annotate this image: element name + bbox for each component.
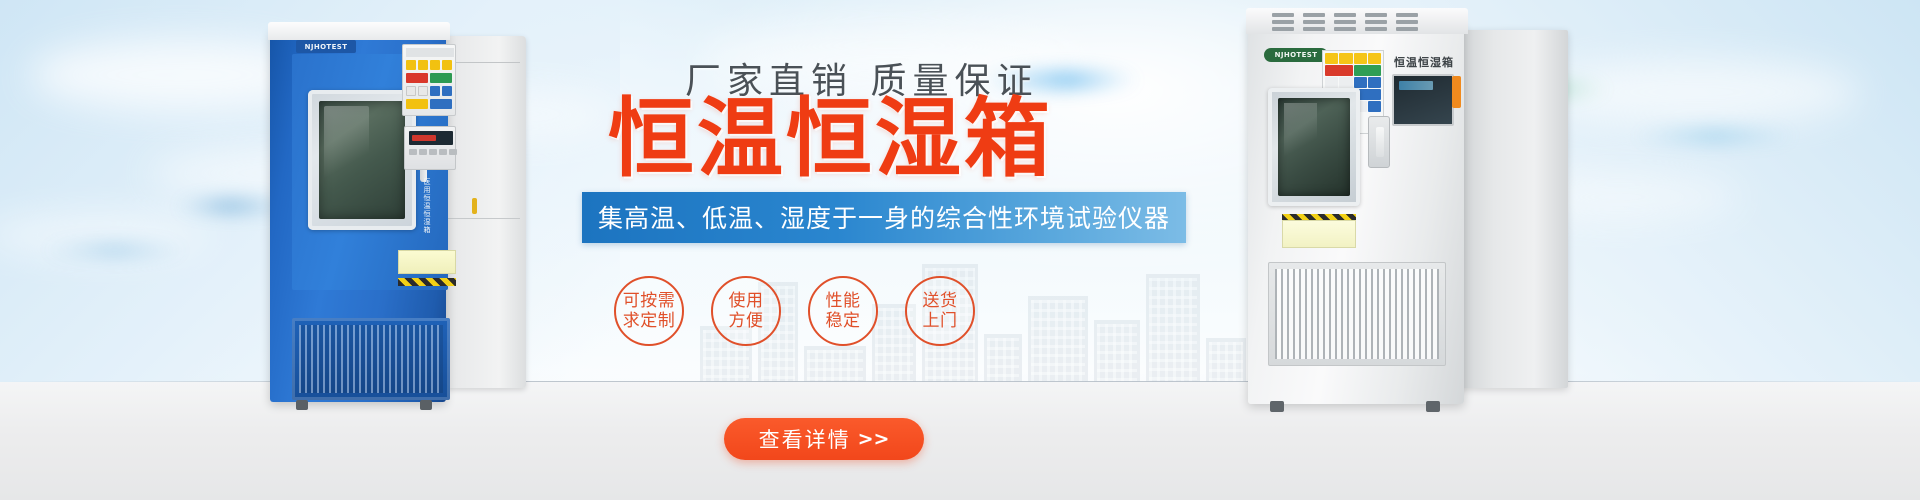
status-indicator-strip <box>1452 76 1461 108</box>
right-chamber-side-panel <box>1456 30 1568 388</box>
badge-line-2: 方便 <box>729 311 764 331</box>
controller-display <box>409 131 453 145</box>
left-chamber-warning-label-panel <box>402 44 456 116</box>
left-chamber-door <box>308 90 416 230</box>
left-chamber-top-cap <box>268 22 450 40</box>
viewing-window-glass <box>319 101 405 219</box>
badge-line-2: 求定制 <box>623 311 676 331</box>
color-streak <box>40 245 190 255</box>
color-streak <box>1630 130 1800 142</box>
badge-line-1: 使用 <box>729 291 764 311</box>
door-handle <box>1368 116 1390 168</box>
left-chamber-vent-grille <box>292 318 450 400</box>
left-chamber-panel-label: 医用恒温恒湿箱 <box>422 178 432 234</box>
banner-subtitle-bar: 集高温、低温、湿度于一身的综合性环境试验仪器 <box>582 192 1186 243</box>
badge-line-1: 性能 <box>826 291 861 311</box>
side-latch-icon <box>472 198 477 214</box>
left-chamber-brand-plate: NJHOTEST <box>296 40 356 53</box>
feature-badge-easy-to-use[interactable]: 使用 方便 <box>711 276 781 346</box>
spec-sticker <box>398 250 456 274</box>
panel-seam <box>438 218 520 219</box>
badge-line-1: 送货 <box>923 291 958 311</box>
promo-banner: NJHOTEST <box>0 0 1920 500</box>
right-chamber-panel-label: 恒温恒湿箱 <box>1394 54 1454 70</box>
chamber-foot <box>296 400 308 410</box>
banner-headline: 恒温恒湿箱 <box>608 96 1053 182</box>
cta-label: 查看详情 <box>759 424 851 454</box>
badge-line-1: 可按需 <box>623 291 676 311</box>
feature-badge-custom[interactable]: 可按需 求定制 <box>614 276 684 346</box>
right-chamber-touch-display <box>1392 74 1454 126</box>
chamber-foot <box>420 400 432 410</box>
feature-badge-delivery[interactable]: 送货 上门 <box>905 276 975 346</box>
badge-line-2: 稳定 <box>826 311 861 331</box>
controller-keypad <box>409 149 457 155</box>
badge-line-2: 上门 <box>923 311 958 331</box>
product-image-left-chamber: NJHOTEST <box>258 22 528 404</box>
banner-copy-block: 厂家直销 质量保证 恒温恒湿箱 集高温、低温、湿度于一身的综合性环境试验仪器 可… <box>600 0 1300 500</box>
chamber-foot <box>1426 401 1440 412</box>
left-chamber-body: NJHOTEST <box>270 30 446 402</box>
left-chamber-controller <box>404 126 456 170</box>
view-details-button[interactable]: 查看详情 >> <box>724 418 924 460</box>
feature-badge-list: 可按需 求定制 使用 方便 性能 稳定 送货 上门 <box>614 276 975 346</box>
chevron-right-double-icon: >> <box>858 428 890 450</box>
hazard-stripe <box>398 278 456 286</box>
feature-badge-stable-performance[interactable]: 性能 稳定 <box>808 276 878 346</box>
